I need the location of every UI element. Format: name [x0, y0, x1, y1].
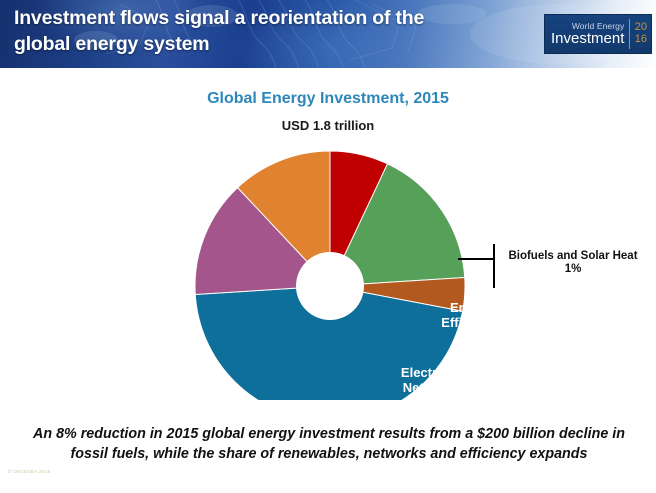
callout-leader-line	[458, 258, 494, 260]
copyright-notice: © OECD/IEA 2016	[8, 469, 50, 474]
donut-hole	[296, 252, 364, 320]
chart-title: Global Energy Investment, 2015	[0, 90, 656, 108]
slide-caption: An 8% reduction in 2015 global energy in…	[18, 424, 640, 465]
donut-chart: Energy Efficiency 12% Thermal Power 7% P…	[193, 138, 467, 400]
callout-bracket	[493, 244, 495, 288]
logo-year: 20 16	[635, 22, 647, 45]
logo-year-bottom: 16	[635, 34, 647, 46]
wei-logo: World Energy Investment 20 16	[544, 14, 652, 54]
slice-label-oil-and-gas: Oil & Gas 46%	[465, 472, 581, 493]
logo-line-world-energy: World Energy	[551, 22, 624, 31]
header-banner: Investment flows signal a reorientation …	[0, 0, 656, 68]
logo-text: World Energy Investment	[551, 22, 629, 47]
slice-label-thermal-power: Thermal Power 7%	[513, 290, 581, 334]
slice-label-power-generation: Power Generation 23%	[533, 334, 621, 378]
page-title: Investment flows signal a reorientation …	[14, 5, 484, 57]
chart-subtitle: USD 1.8 trillion	[0, 118, 656, 133]
logo-line-investment: Investment	[551, 31, 624, 46]
callout-biofuels-solar-heat: Biofuels and Solar Heat 1%	[498, 250, 648, 276]
slice-label-renewables: Renewables 17%	[565, 356, 647, 385]
donut-chart-svg	[193, 138, 467, 400]
slide: Investment flows signal a reorientation …	[0, 0, 656, 493]
